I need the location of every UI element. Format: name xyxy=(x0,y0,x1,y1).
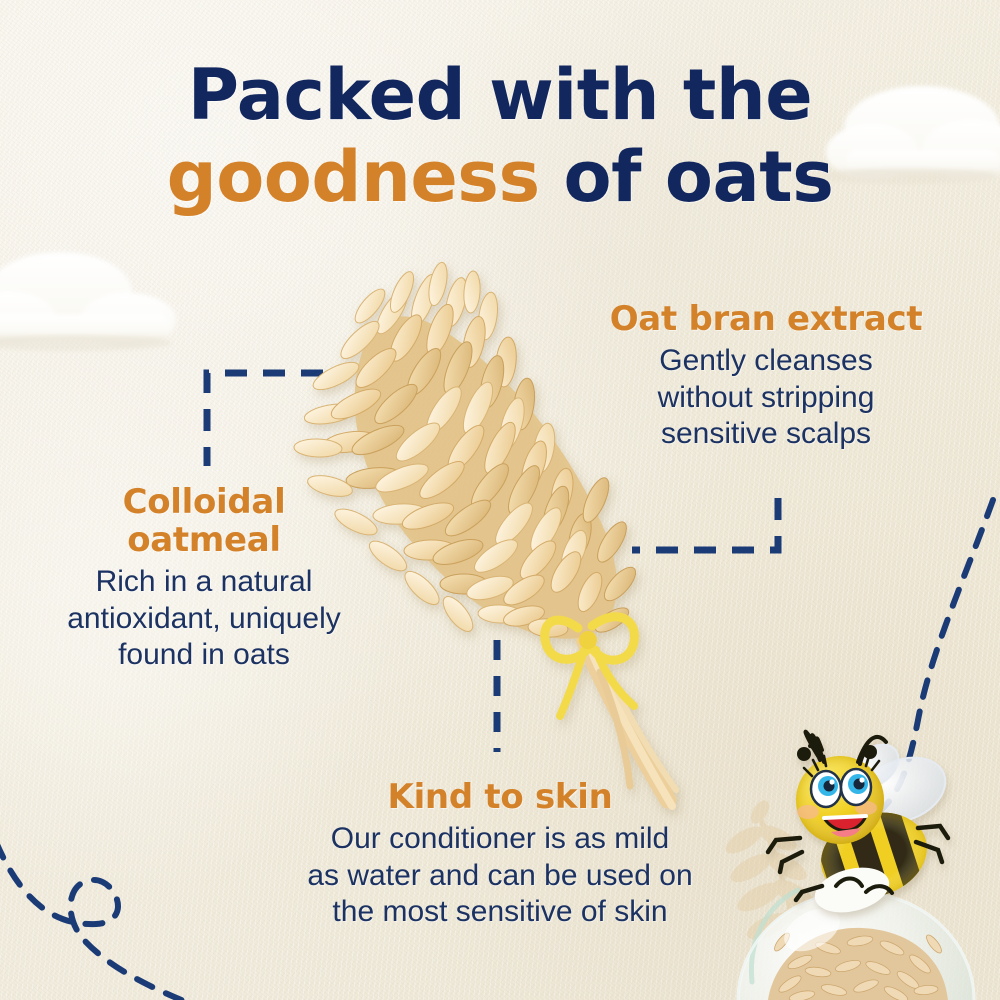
callout-body-line: Gently cleanses xyxy=(556,343,976,380)
callout-body-line: Rich in a natural xyxy=(14,564,394,601)
callout-body-line: without stripping xyxy=(556,380,976,417)
bee-flight-loop-bottom-left xyxy=(0,842,186,1000)
callout-title-oat-bran-extract: Oat bran extract xyxy=(556,300,976,338)
callout-body-line: sensitive scalps xyxy=(556,416,976,453)
callout-body-oat-bran-extract: Gently cleanses without stripping sensit… xyxy=(556,343,976,453)
callout-kind-to-skin: Kind to skin Our conditioner is as mild … xyxy=(244,778,756,931)
callout-title-kind-to-skin: Kind to skin xyxy=(244,778,756,816)
headline-line-2: goodness of oats xyxy=(0,142,1000,212)
callout-body-line: as water and can be used on xyxy=(244,858,756,895)
poster-canvas: Packed with the goodness of oats Oat bra… xyxy=(0,0,1000,1000)
callout-body-line: antioxidant, uniquely xyxy=(14,601,394,638)
callout-body-line: found in oats xyxy=(14,637,394,674)
callout-body-kind-to-skin: Our conditioner is as mild as water and … xyxy=(244,821,756,931)
callout-body-line: Our conditioner is as mild xyxy=(244,821,756,858)
bee-head xyxy=(796,732,886,844)
callout-colloidal-oatmeal: Colloidal oatmeal Rich in a natural anti… xyxy=(14,483,394,674)
headline-line-1: Packed with the xyxy=(0,60,1000,130)
cloud-left xyxy=(0,252,176,351)
connector-oat-bran xyxy=(632,498,778,550)
headline-rest: of oats xyxy=(540,136,834,218)
callout-oat-bran-extract: Oat bran extract Gently cleanses without… xyxy=(556,300,976,453)
callout-body-colloidal-oatmeal: Rich in a natural antioxidant, uniquely … xyxy=(14,564,394,674)
headline-highlight: goodness xyxy=(167,136,540,218)
callout-title-colloidal-oatmeal: Colloidal oatmeal xyxy=(14,483,394,559)
callout-body-line: the most sensitive of skin xyxy=(244,894,756,931)
callout-title-line: Colloidal xyxy=(14,483,394,521)
callout-title-line: oatmeal xyxy=(14,521,394,559)
page-title: Packed with the goodness of oats xyxy=(0,60,1000,212)
